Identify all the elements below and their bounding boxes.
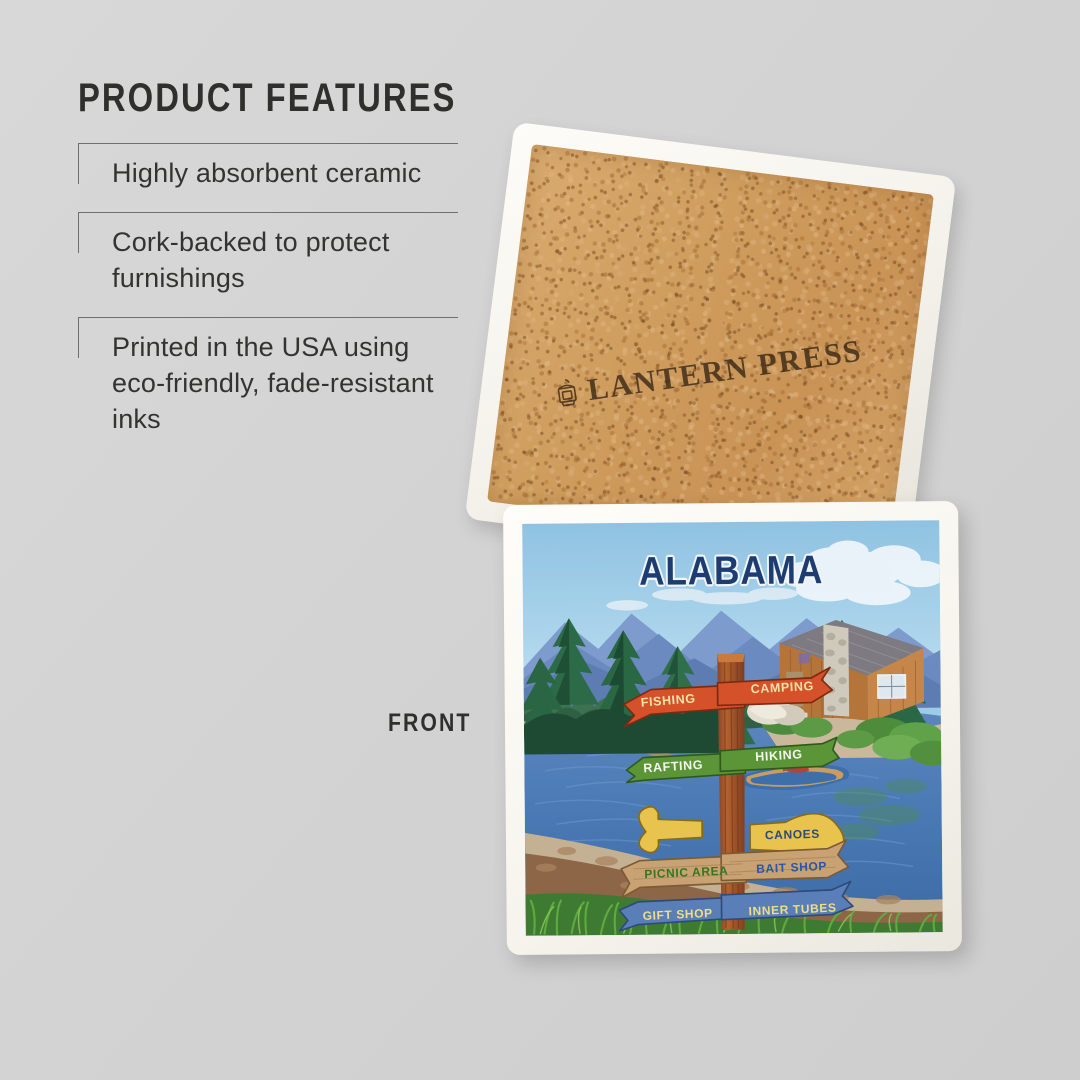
feature-item: Printed in the USA using eco-friendly, f…	[78, 317, 458, 452]
lantern-icon	[551, 377, 581, 410]
page-title: PRODUCT FEATURES	[78, 76, 390, 121]
feature-text: Highly absorbent ceramic	[112, 156, 458, 192]
feature-text: Printed in the USA using eco-friendly, f…	[112, 330, 458, 438]
feature-text: Cork-backed to protect furnishings	[112, 225, 458, 297]
cork-backing: LANTERN PRESS	[487, 144, 934, 552]
coaster-front: ALABAMA FISHING CAMPING RAFTING HIKING C…	[503, 501, 962, 955]
brand-name: LANTERN PRESS	[585, 333, 864, 409]
product-listing-image: PRODUCT FEATURES Highly absorbent cerami…	[0, 0, 1080, 1080]
product-features-panel: PRODUCT FEATURES Highly absorbent cerami…	[78, 76, 458, 457]
feature-item: Highly absorbent ceramic	[78, 143, 458, 206]
coaster-artwork: ALABAMA FISHING CAMPING RAFTING HIKING C…	[522, 520, 943, 936]
feature-item: Cork-backed to protect furnishings	[78, 212, 458, 311]
front-label: FRONT	[388, 709, 471, 738]
artwork-illustration	[522, 520, 943, 936]
brand-stamp: LANTERN PRESS	[551, 333, 864, 413]
